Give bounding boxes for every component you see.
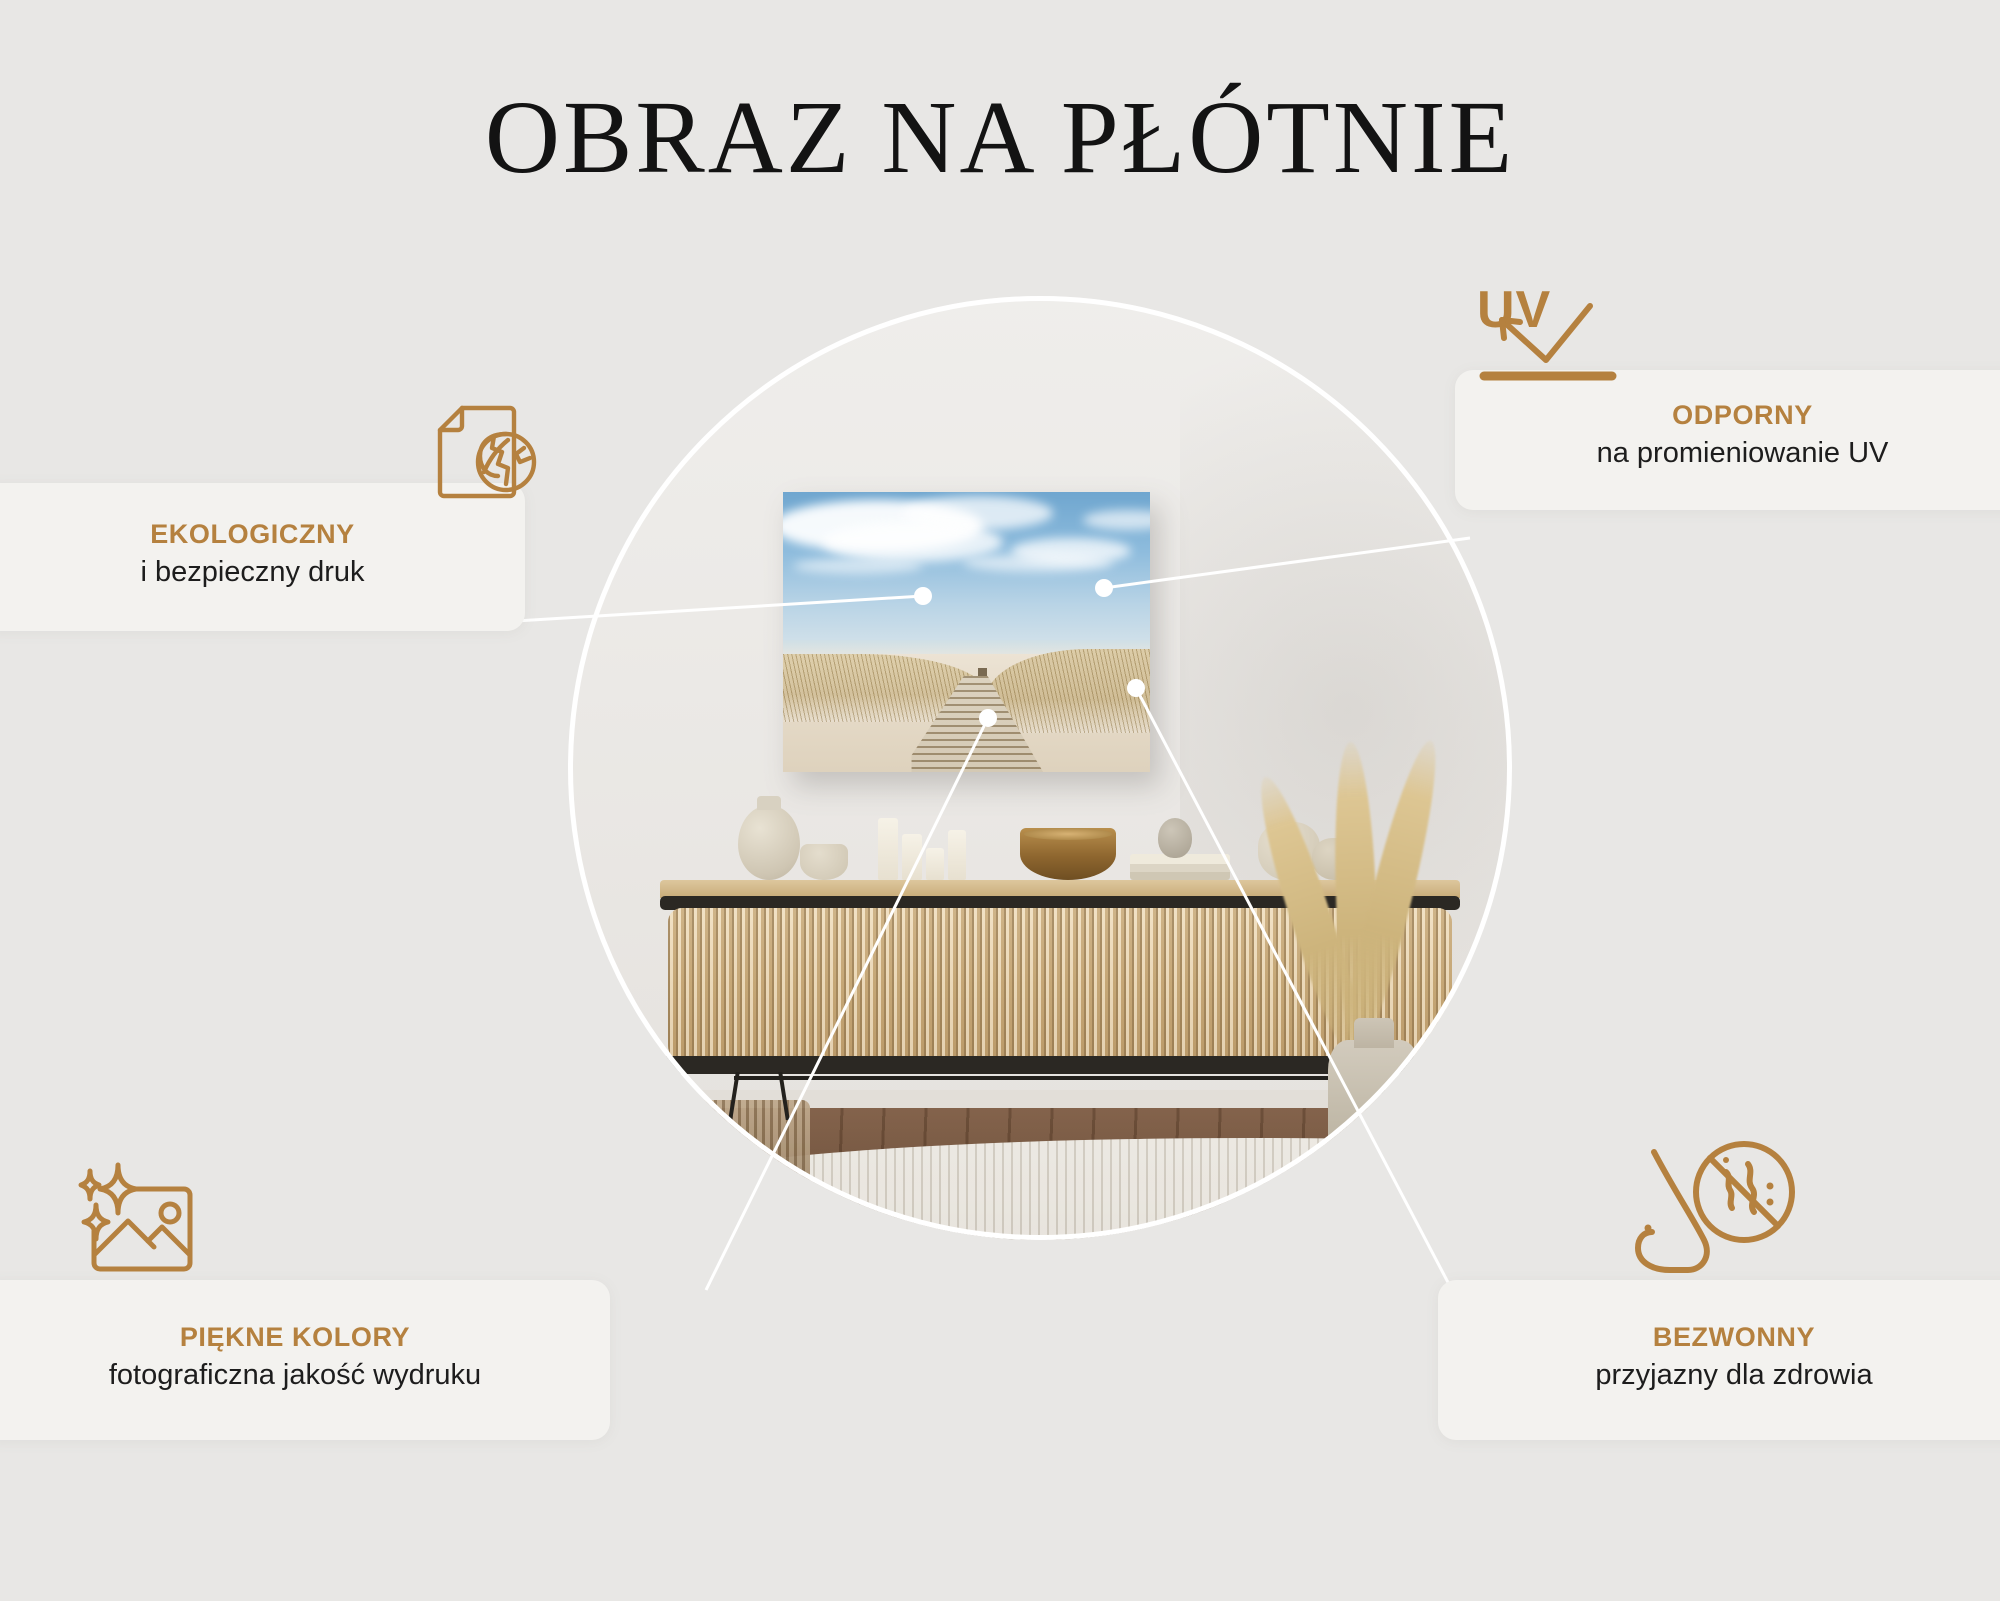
room-scene-circle — [568, 296, 1512, 1240]
infographic-stage: OBRAZ NA PŁÓTNIE — [0, 0, 2000, 1601]
feature-subtitle-colors: fotograficzna jakość wydruku — [0, 1358, 590, 1393]
candle — [902, 834, 922, 880]
feature-title-colors: PIĘKNE KOLORY — [0, 1322, 590, 1353]
feature-subtitle-eco: i bezpieczny druk — [10, 555, 495, 590]
books-stack — [1130, 854, 1230, 880]
ceramic-vase — [738, 806, 800, 880]
decorative-stone — [1158, 818, 1192, 858]
ceramic-bowl — [800, 844, 848, 880]
brass-bowl — [1020, 828, 1116, 880]
beach-boardwalk-canvas — [783, 492, 1150, 772]
cloud — [793, 558, 923, 574]
sideboard-rail — [734, 1076, 1384, 1080]
feature-title-odorless: BEZWONNY — [1458, 1322, 2000, 1353]
candle — [948, 830, 966, 880]
picture-sparkle-icon — [62, 1155, 242, 1280]
uv-resistance-icon — [1476, 278, 1636, 388]
candle — [878, 818, 898, 880]
pampas-grass-vase — [1328, 1040, 1420, 1240]
feature-subtitle-odorless: przyjazny dla zdrowia — [1458, 1358, 2000, 1393]
cloud — [903, 496, 1053, 530]
page-title: OBRAZ NA PŁÓTNIE — [0, 78, 2000, 197]
feature-title-uv: ODPORNY — [1475, 400, 2000, 431]
cloud — [963, 554, 1113, 572]
feature-card-colors[interactable]: PIĘKNE KOLORY fotograficzna jakość wydru… — [0, 1280, 610, 1440]
room-scene — [568, 296, 1512, 1240]
feature-title-eco: EKOLOGICZNY — [10, 519, 495, 550]
document-eco-globe-leaf-icon — [428, 396, 548, 506]
candle — [926, 848, 944, 880]
feature-subtitle-uv: na promieniowanie UV — [1475, 436, 2000, 471]
sideboard-leg — [728, 1072, 740, 1120]
nose-no-smell-icon — [1630, 1140, 1800, 1305]
feature-card-uv[interactable]: ODPORNY na promieniowanie UV — [1455, 370, 2000, 510]
